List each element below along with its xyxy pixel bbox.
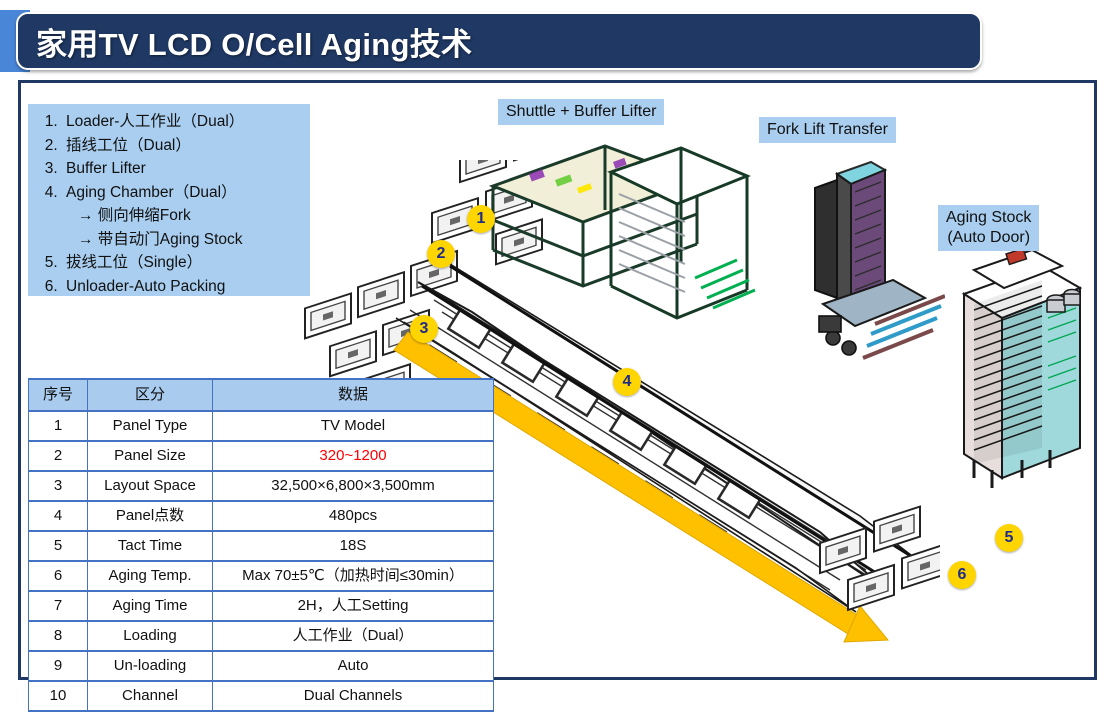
table-cell-division: Aging Time xyxy=(88,591,213,621)
table-cell-division: Tact Time xyxy=(88,531,213,561)
table-row: 1Panel TypeTV Model xyxy=(29,411,494,441)
table-cell-data: TV Model xyxy=(213,411,494,441)
table-row: 3Layout Space32,500×6,800×3,500mm xyxy=(29,471,494,501)
table-cell-division: Layout Space xyxy=(88,471,213,501)
table-header-data: 数据 xyxy=(213,379,494,411)
table-cell-data: 2H，人工Setting xyxy=(213,591,494,621)
list-item: Buffer Lifter xyxy=(62,157,306,181)
table-header-row: 序号 区分 数据 xyxy=(29,379,494,411)
step-marker-1: 1 xyxy=(467,205,495,233)
page-title: 家用TV LCD O/Cell Aging技术 xyxy=(18,19,472,64)
list-item: Unloader-Auto Packing xyxy=(62,275,306,299)
bullet-label: 插线工位（Dual） xyxy=(66,137,191,154)
table-cell-data: Auto xyxy=(213,651,494,681)
table-cell-division: Panel Type xyxy=(88,411,213,441)
process-step-list: Loader-人工作业（Dual） 插线工位（Dual） Buffer Lift… xyxy=(28,104,310,296)
table-row: 4Panel点数480pcs xyxy=(29,501,494,531)
table-cell-no: 1 xyxy=(29,411,88,441)
callout-fork-lift-transfer: Fork Lift Transfer xyxy=(759,117,896,143)
table-body: 1Panel TypeTV Model2Panel Size320~12003L… xyxy=(29,411,494,711)
bullets-ordered-list: Loader-人工作业（Dual） 插线工位（Dual） Buffer Lift… xyxy=(36,110,306,298)
callout-shuttle-buffer-lifter: Shuttle + Buffer Lifter xyxy=(498,99,664,125)
table-cell-division: Channel xyxy=(88,681,213,711)
table-cell-data: Max 70±5℃（加热时间≤30min） xyxy=(213,561,494,591)
table-cell-data: 18S xyxy=(213,531,494,561)
table-cell-data: 人工作业（Dual） xyxy=(213,621,494,651)
table-cell-division: Panel点数 xyxy=(88,501,213,531)
bullet-label: Buffer Lifter xyxy=(66,160,146,177)
table-row: 5Tact Time18S xyxy=(29,531,494,561)
step-marker-5: 5 xyxy=(995,524,1023,552)
table-cell-no: 6 xyxy=(29,561,88,591)
step-marker-4: 4 xyxy=(613,368,641,396)
table-row: 7Aging Time2H，人工Setting xyxy=(29,591,494,621)
table-row: 10ChannelDual Channels xyxy=(29,681,494,711)
table-cell-division: Panel Size xyxy=(88,441,213,471)
list-item: 插线工位（Dual） xyxy=(62,134,306,158)
slide-title-bar: 家用TV LCD O/Cell Aging技术 xyxy=(16,12,982,70)
sub-list-item: → 带自动门Aging Stock xyxy=(78,228,306,252)
table-cell-no: 4 xyxy=(29,501,88,531)
table-cell-data: 320~1200 xyxy=(213,441,494,471)
table-header-no: 序号 xyxy=(29,379,88,411)
table-cell-no: 8 xyxy=(29,621,88,651)
table-cell-no: 5 xyxy=(29,531,88,561)
table-cell-no: 2 xyxy=(29,441,88,471)
bullet-label: Loader-人工作业（Dual） xyxy=(66,113,244,130)
table-cell-data: Dual Channels xyxy=(213,681,494,711)
step-marker-3: 3 xyxy=(410,315,438,343)
table-cell-data: 32,500×6,800×3,500mm xyxy=(213,471,494,501)
specification-table: 序号 区分 数据 1Panel TypeTV Model2Panel Size3… xyxy=(28,378,494,712)
table-cell-division: Aging Temp. xyxy=(88,561,213,591)
table-row: 2Panel Size320~1200 xyxy=(29,441,494,471)
sub-list: → 侧向伸缩Fork → 带自动门Aging Stock xyxy=(66,204,306,251)
table-cell-division: Un-loading xyxy=(88,651,213,681)
table-row: 9Un-loadingAuto xyxy=(29,651,494,681)
sub-list-item: → 侧向伸缩Fork xyxy=(78,204,306,228)
list-item: 拔线工位（Single） xyxy=(62,251,306,275)
table-cell-no: 10 xyxy=(29,681,88,711)
bullet-label: 拔线工位（Single） xyxy=(66,254,202,271)
table-cell-no: 9 xyxy=(29,651,88,681)
step-marker-6: 6 xyxy=(948,561,976,589)
bullet-label: Unloader-Auto Packing xyxy=(66,278,225,295)
table-row: 6Aging Temp.Max 70±5℃（加热时间≤30min） xyxy=(29,561,494,591)
slide-canvas: 家用TV LCD O/Cell Aging技术 xyxy=(0,0,1115,698)
callout-aging-stock: Aging Stock (Auto Door) xyxy=(938,205,1039,251)
table-cell-no: 3 xyxy=(29,471,88,501)
list-item: Aging Chamber（Dual） → 侧向伸缩Fork → 带自动门Agi… xyxy=(62,181,306,252)
list-item: Loader-人工作业（Dual） xyxy=(62,110,306,134)
bullet-label: Aging Chamber（Dual） xyxy=(66,184,237,201)
table-header-div: 区分 xyxy=(88,379,213,411)
table-row: 8Loading人工作业（Dual） xyxy=(29,621,494,651)
table-cell-division: Loading xyxy=(88,621,213,651)
table-cell-no: 7 xyxy=(29,591,88,621)
table-cell-data: 480pcs xyxy=(213,501,494,531)
step-marker-2: 2 xyxy=(427,240,455,268)
